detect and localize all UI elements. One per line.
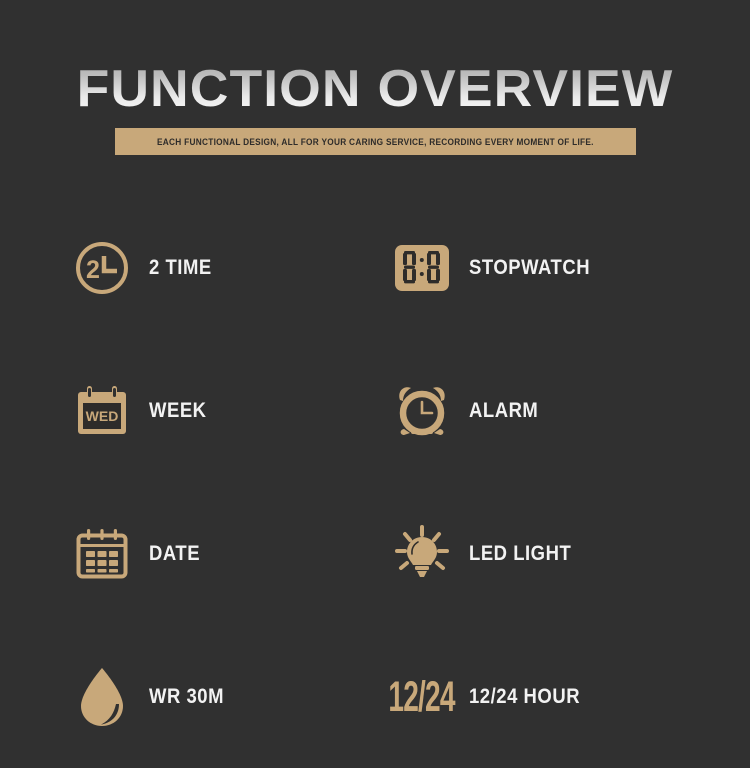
feature-item-alarm: ALARM xyxy=(375,339,685,482)
led-light-bulb-icon xyxy=(391,523,453,585)
feature-label: STOPWATCH xyxy=(469,256,590,280)
page-title: FUNCTION OVERVIEW xyxy=(0,58,750,120)
feature-label: ALARM xyxy=(469,399,538,423)
feature-item-2-time: 2 2 TIME xyxy=(65,196,375,339)
stopwatch-icon xyxy=(391,237,453,299)
two-time-clock-icon: 2 xyxy=(71,237,133,299)
feature-label: 12/24 HOUR xyxy=(469,685,580,709)
twelve-twentyfour-icon: 12/24 xyxy=(391,666,453,728)
svg-text:2: 2 xyxy=(86,256,100,284)
alarm-clock-icon xyxy=(391,380,453,442)
feature-item-led-light: LED LIGHT xyxy=(375,482,685,625)
subtitle-text: EACH FUNCTIONAL DESIGN, ALL FOR YOUR CAR… xyxy=(157,137,594,147)
twelve-twentyfour-icon-text: 12/24 xyxy=(389,675,455,717)
function-overview-page: FUNCTION OVERVIEW EACH FUNCTIONAL DESIGN… xyxy=(0,0,750,765)
water-drop-icon xyxy=(71,666,133,728)
feature-item-12-24-hour: 12/24 12/24 HOUR xyxy=(375,625,685,768)
feature-label: 2 TIME xyxy=(149,256,212,280)
feature-item-week: WED WEEK xyxy=(65,339,375,482)
feature-item-date: DATE xyxy=(65,482,375,625)
week-calendar-icon: WED xyxy=(71,380,133,442)
header: FUNCTION OVERVIEW EACH FUNCTIONAL DESIGN… xyxy=(0,58,750,155)
week-calendar-day-text: WED xyxy=(86,408,119,424)
subtitle-banner: EACH FUNCTIONAL DESIGN, ALL FOR YOUR CAR… xyxy=(115,128,636,155)
date-calendar-icon xyxy=(71,523,133,585)
feature-item-water-resistance: WR 30M xyxy=(65,625,375,768)
feature-label: WEEK xyxy=(149,399,207,423)
feature-item-stopwatch: STOPWATCH xyxy=(375,196,685,339)
feature-label: LED LIGHT xyxy=(469,542,571,566)
feature-grid: 2 2 TIME xyxy=(0,196,750,768)
feature-label: DATE xyxy=(149,542,200,566)
feature-label: WR 30M xyxy=(149,685,224,709)
